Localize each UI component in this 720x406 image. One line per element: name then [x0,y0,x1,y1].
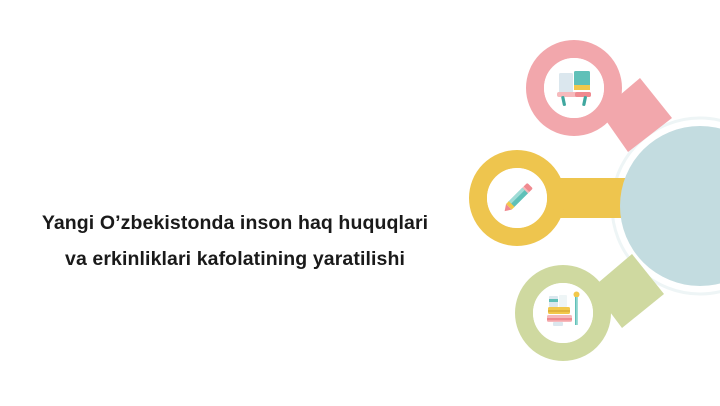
node-easel [535,49,613,127]
three-rings-illustration [450,0,720,406]
page-title: Yangi O’zbekistonda inson haq huquqlari … [0,205,470,277]
node-books [524,274,602,352]
slide-canvas: Yangi O’zbekistonda inson haq huquqlari … [0,0,720,406]
title-line-1: Yangi O’zbekistonda inson haq huquqlari [0,205,470,241]
title-line-2: va erkinliklari kafolatining yaratilishi [0,241,470,277]
node-pencil [478,159,556,237]
